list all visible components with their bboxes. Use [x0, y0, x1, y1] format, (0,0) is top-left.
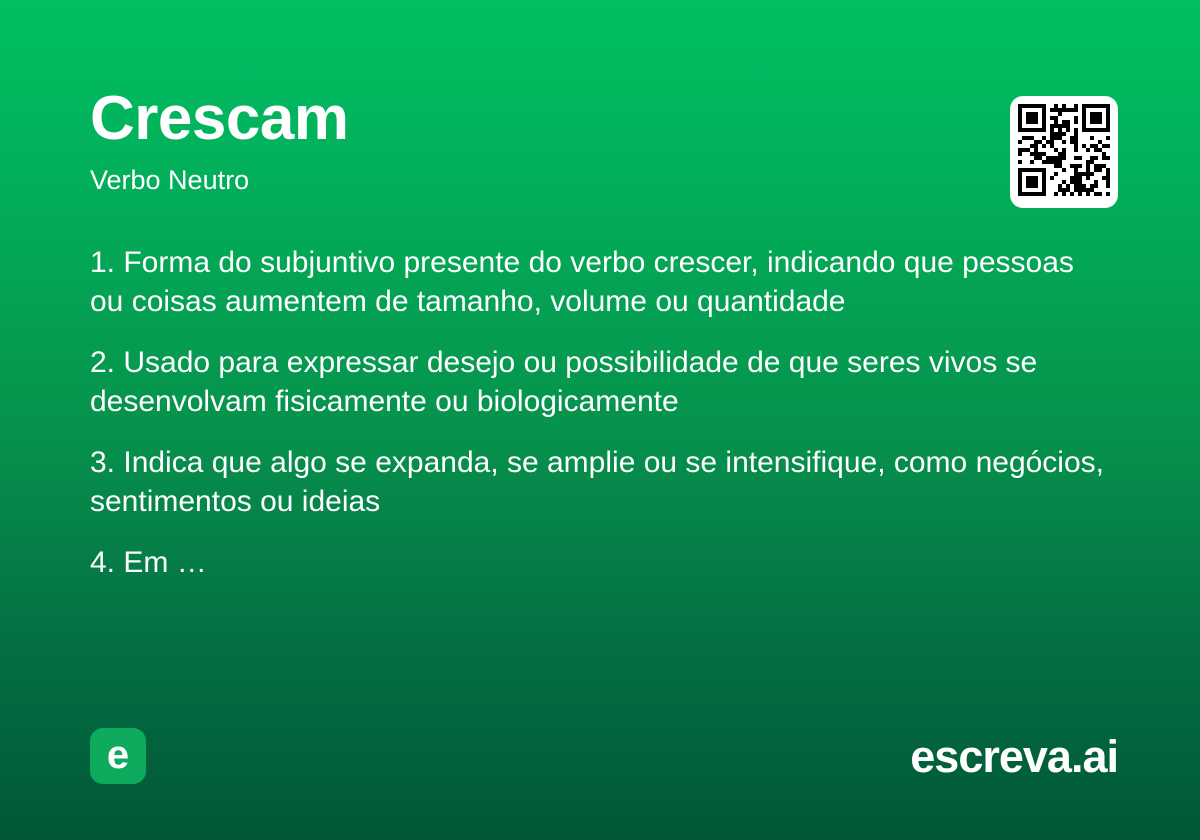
definition-item: 3. Indica que algo se expanda, se amplie…: [90, 443, 1115, 521]
definition-list: 1. Forma do subjuntivo presente do verbo…: [90, 243, 1115, 582]
qr-code-icon: [1018, 104, 1110, 200]
card-header: Crescam Verbo Neutro: [90, 88, 1110, 196]
logo-letter: e: [107, 735, 129, 775]
brand-name: escreva.ai: [910, 734, 1118, 779]
qr-code[interactable]: [1010, 96, 1118, 208]
card-footer: e escreva.ai: [90, 728, 1118, 784]
logo-badge[interactable]: e: [90, 728, 146, 784]
part-of-speech-label: Verbo Neutro: [90, 166, 1110, 196]
definition-item: 4. Em …: [90, 543, 1115, 582]
page-title: Crescam: [90, 88, 1110, 150]
definition-item: 2. Usado para expressar desejo ou possib…: [90, 343, 1115, 421]
definition-item: 1. Forma do subjuntivo presente do verbo…: [90, 243, 1115, 321]
dictionary-card: Crescam Verbo Neutro 1. Forma do subjunt…: [0, 0, 1200, 840]
